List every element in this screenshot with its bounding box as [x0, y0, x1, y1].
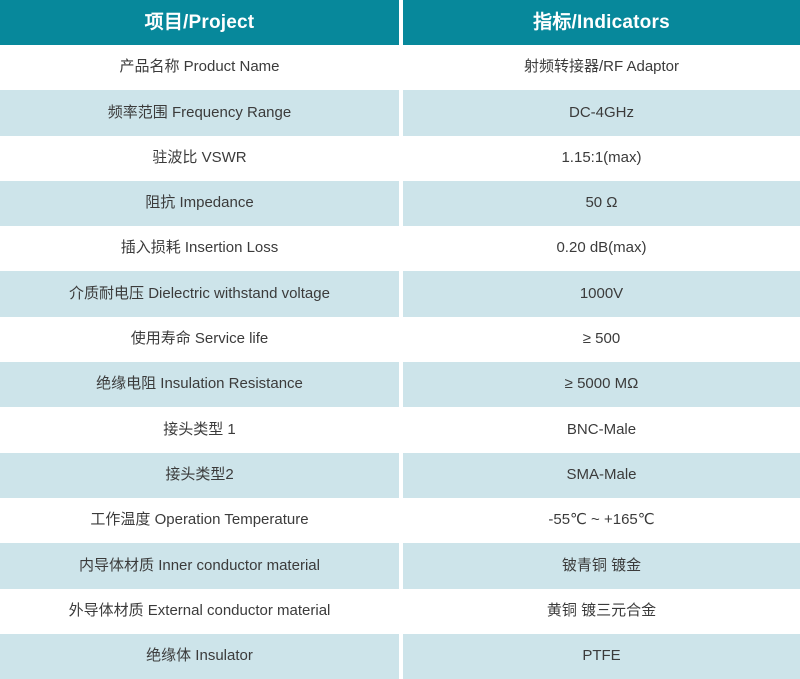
cell-indicator: DC-4GHz [403, 90, 800, 135]
table-row: 插入损耗 Insertion Loss0.20 dB(max) [0, 226, 800, 271]
cell-indicator: PTFE [403, 634, 800, 679]
cell-project: 接头类型 1 [0, 407, 399, 452]
cell-indicator: 0.20 dB(max) [403, 226, 800, 271]
cell-indicator: -55℃ ~ +165℃ [403, 498, 800, 543]
table-row: 驻波比 VSWR1.15:1(max) [0, 136, 800, 181]
table-row: 产品名称 Product Name射频转接器/RF Adaptor [0, 45, 800, 90]
cell-project: 内导体材质 Inner conductor material [0, 543, 399, 588]
cell-indicator: SMA-Male [403, 453, 800, 498]
table-row: 接头类型2SMA-Male [0, 453, 800, 498]
specification-table: 项目/Project 指标/Indicators 产品名称 Product Na… [0, 0, 800, 679]
table-body: 产品名称 Product Name射频转接器/RF Adaptor频率范围 Fr… [0, 45, 800, 679]
table-row: 介质耐电压 Dielectric withstand voltage1000V [0, 271, 800, 316]
cell-project: 绝缘电阻 Insulation Resistance [0, 362, 399, 407]
table-row: 接头类型 1BNC-Male [0, 407, 800, 452]
cell-project: 频率范围 Frequency Range [0, 90, 399, 135]
cell-indicator: 黄铜 镀三元合金 [403, 589, 800, 634]
table-header: 项目/Project 指标/Indicators [0, 0, 800, 45]
cell-project: 工作温度 Operation Temperature [0, 498, 399, 543]
column-header-project: 项目/Project [0, 0, 399, 45]
cell-indicator: 射频转接器/RF Adaptor [403, 45, 800, 90]
cell-indicator: 铍青铜 镀金 [403, 543, 800, 588]
cell-project: 产品名称 Product Name [0, 45, 399, 90]
table-row: 内导体材质 Inner conductor material铍青铜 镀金 [0, 543, 800, 588]
cell-project: 阻抗 Impedance [0, 181, 399, 226]
table-row: 频率范围 Frequency RangeDC-4GHz [0, 90, 800, 135]
cell-project: 外导体材质 External conductor material [0, 589, 399, 634]
cell-project: 插入损耗 Insertion Loss [0, 226, 399, 271]
cell-indicator: 50 Ω [403, 181, 800, 226]
header-row: 项目/Project 指标/Indicators [0, 0, 800, 45]
cell-indicator: 1000V [403, 271, 800, 316]
table-row: 绝缘体 InsulatorPTFE [0, 634, 800, 679]
cell-indicator: BNC-Male [403, 407, 800, 452]
cell-indicator: 1.15:1(max) [403, 136, 800, 181]
table-row: 阻抗 Impedance50 Ω [0, 181, 800, 226]
column-header-indicators: 指标/Indicators [403, 0, 800, 45]
cell-project: 驻波比 VSWR [0, 136, 399, 181]
cell-project: 绝缘体 Insulator [0, 634, 399, 679]
table-row: 使用寿命 Service life≥ 500 [0, 317, 800, 362]
table-row: 工作温度 Operation Temperature-55℃ ~ +165℃ [0, 498, 800, 543]
cell-indicator: ≥ 500 [403, 317, 800, 362]
cell-project: 接头类型2 [0, 453, 399, 498]
cell-project: 使用寿命 Service life [0, 317, 399, 362]
cell-indicator: ≥ 5000 MΩ [403, 362, 800, 407]
table-row: 外导体材质 External conductor material黄铜 镀三元合… [0, 589, 800, 634]
table-row: 绝缘电阻 Insulation Resistance≥ 5000 MΩ [0, 362, 800, 407]
cell-project: 介质耐电压 Dielectric withstand voltage [0, 271, 399, 316]
